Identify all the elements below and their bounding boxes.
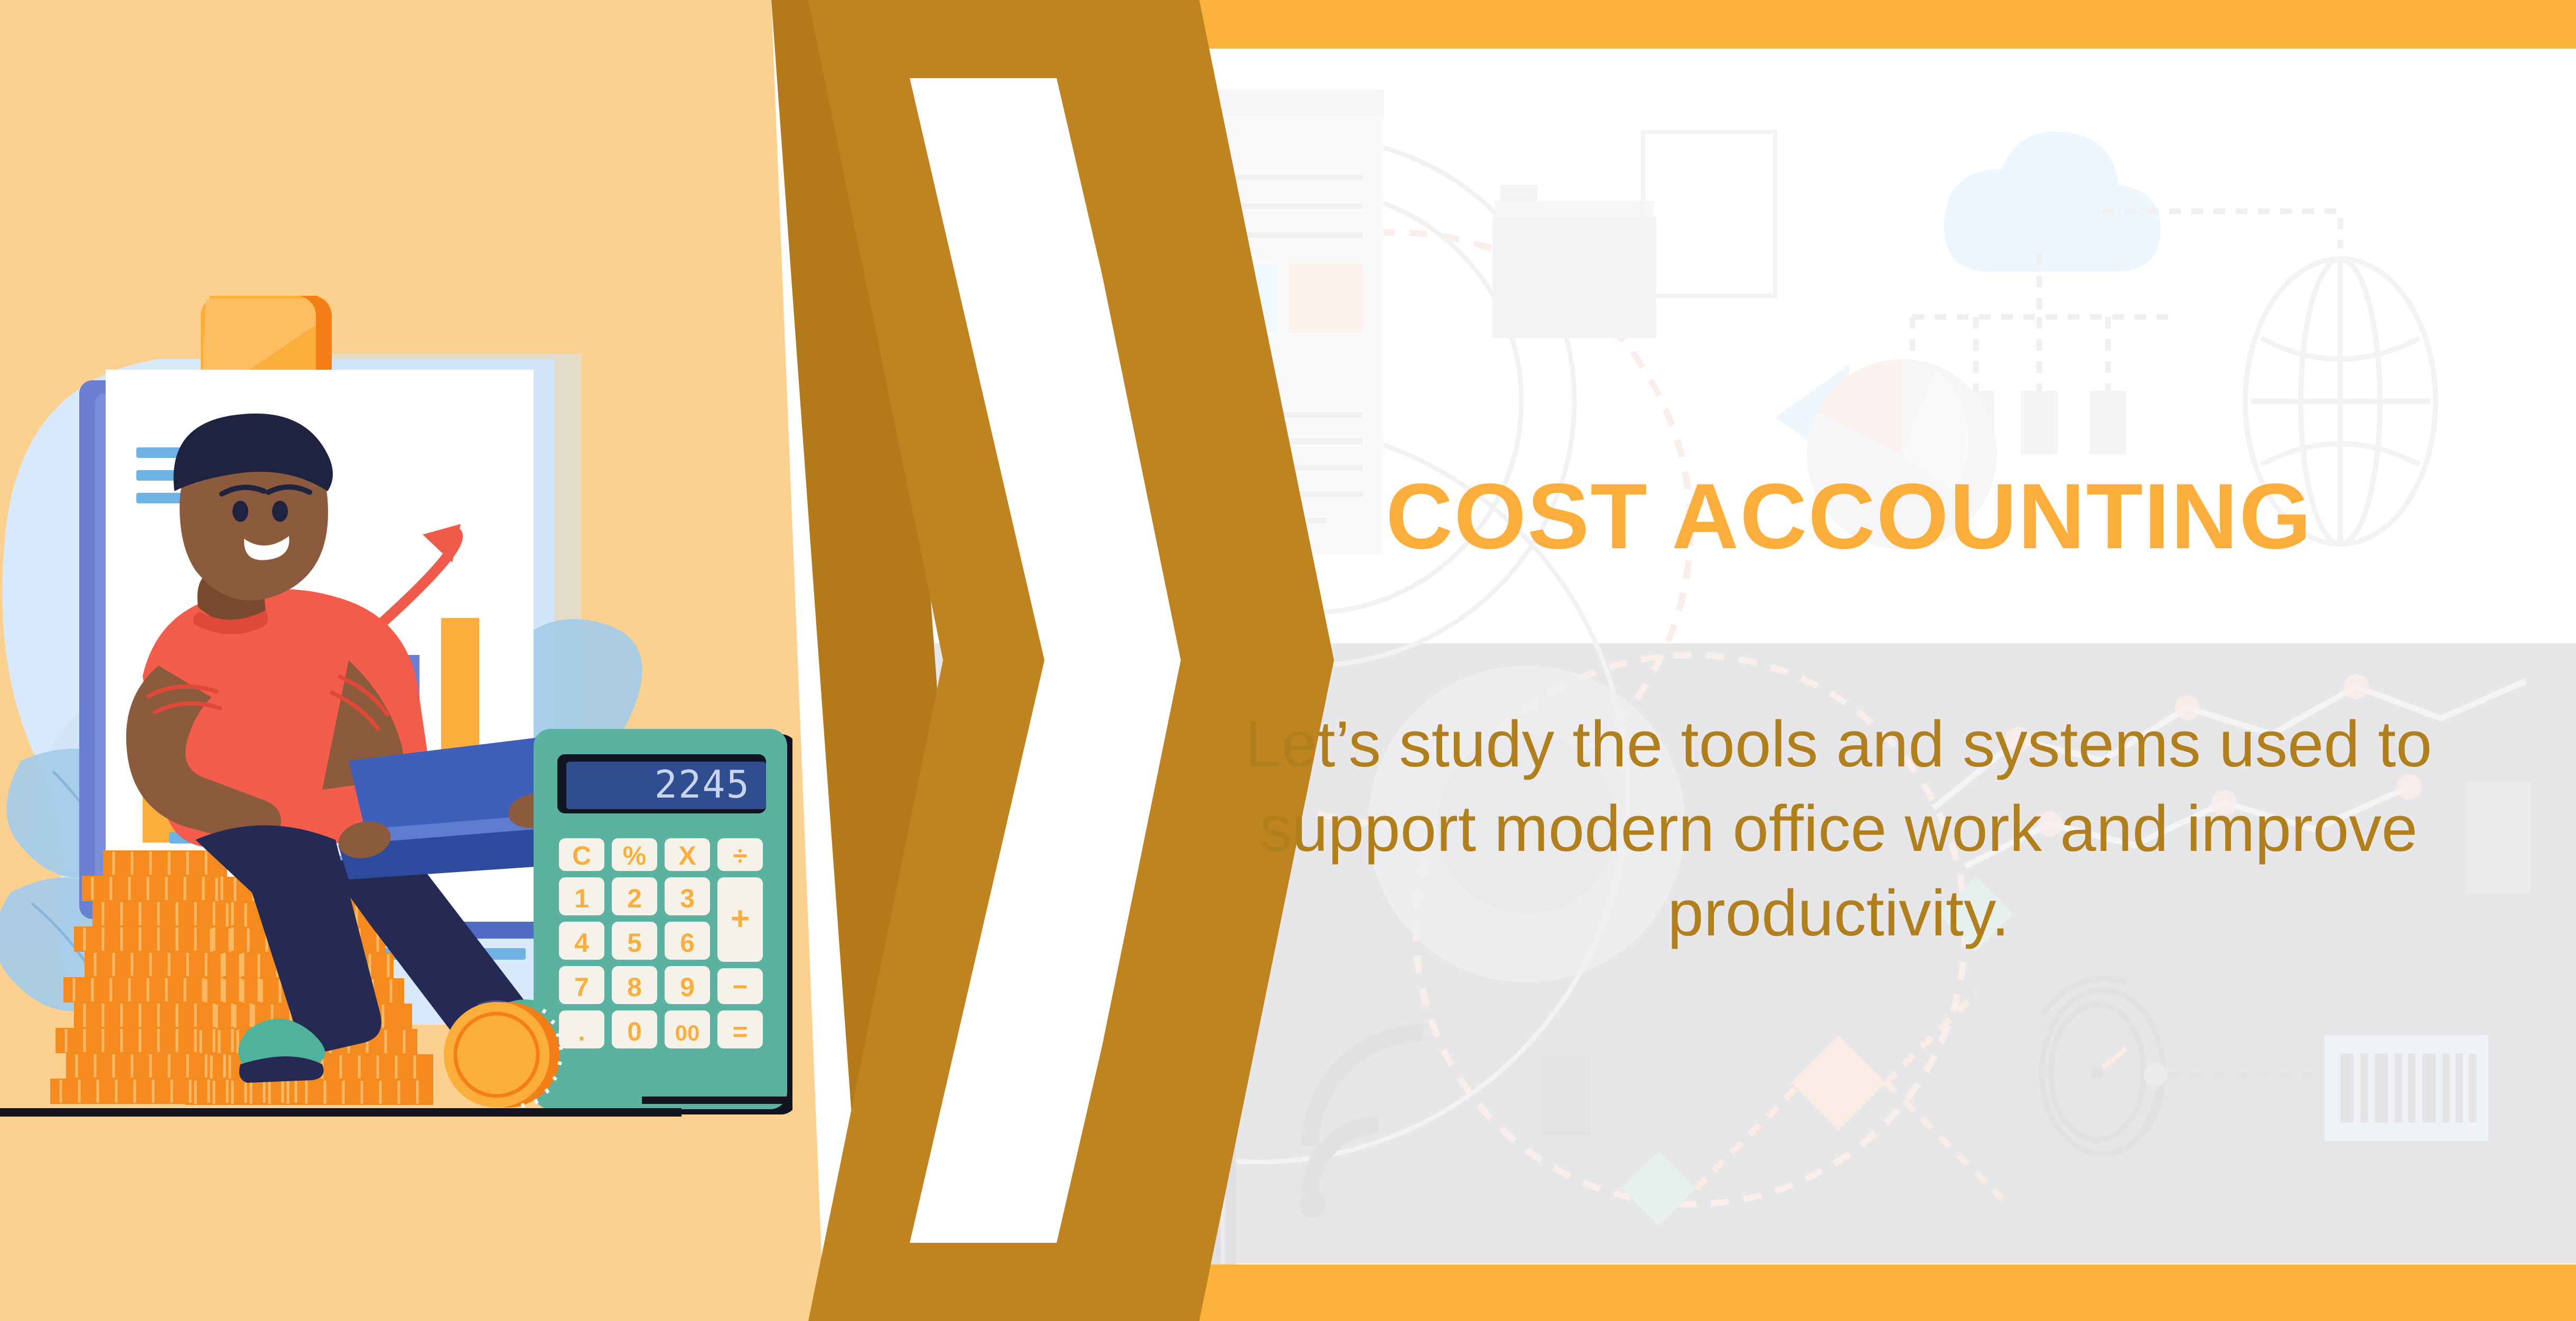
svg-text:−: − <box>732 972 748 1001</box>
svg-text:4: 4 <box>574 928 589 958</box>
svg-text:6: 6 <box>680 928 695 958</box>
calculator-display-value: 2245 <box>655 762 750 807</box>
page-title: COST ACCOUNTING <box>1268 470 2430 563</box>
svg-text:X: X <box>678 841 696 870</box>
svg-text:2: 2 <box>627 884 642 913</box>
svg-text:0: 0 <box>627 1017 642 1046</box>
svg-text:%: % <box>623 841 646 870</box>
svg-text:÷: ÷ <box>733 841 747 870</box>
svg-text:.: . <box>578 1017 585 1046</box>
cloud-icon <box>1944 132 2161 272</box>
banner-canvas: 2245 <box>0 0 2576 1321</box>
svg-text:+: + <box>731 901 750 937</box>
svg-text:8: 8 <box>627 972 642 1002</box>
binary-digits-icon <box>2325 1035 2488 1141</box>
svg-text:=: = <box>732 1017 748 1046</box>
svg-text:C: C <box>572 841 591 870</box>
folder-icon <box>1492 132 1775 338</box>
calculator-illustration: 2245 <box>534 729 792 1114</box>
page-subtitle: Let’s study the tools and systems used t… <box>1183 702 2494 956</box>
svg-text:5: 5 <box>627 928 642 958</box>
svg-text:3: 3 <box>680 884 695 913</box>
svg-text:9: 9 <box>680 972 695 1002</box>
wifi-icon <box>1310 1033 1424 1194</box>
gold-coin <box>444 1002 563 1108</box>
accounting-illustration: 2245 <box>0 296 792 1151</box>
svg-text:7: 7 <box>574 972 589 1002</box>
svg-text:00: 00 <box>675 1020 700 1045</box>
svg-text:1: 1 <box>574 884 589 913</box>
